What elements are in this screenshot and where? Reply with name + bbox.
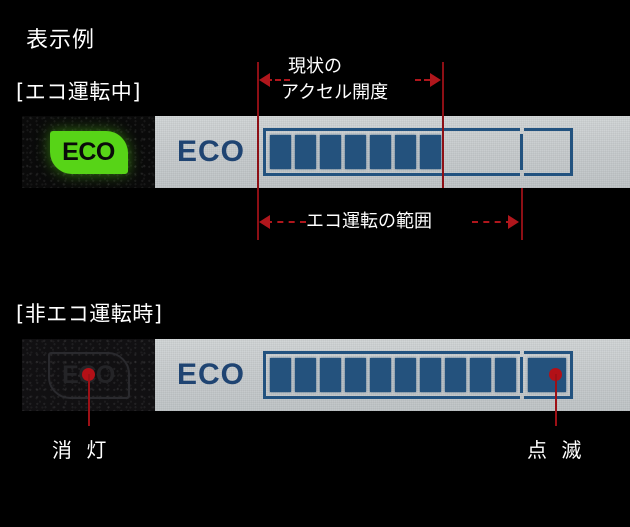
gauge-segment	[345, 135, 366, 169]
eco-gauge-bar	[263, 351, 573, 399]
arrow-range-left	[259, 215, 270, 229]
arrow-accel-left	[259, 73, 270, 87]
marker-leader-right	[555, 374, 557, 426]
dash-range-right	[472, 221, 512, 223]
annotation-accel-opening-line1: 現状の	[288, 56, 342, 78]
gauge-segment	[420, 135, 441, 169]
section-heading-non-eco: [非エコ運転時]	[16, 298, 162, 328]
eco-range-trough	[263, 128, 520, 176]
section-heading-eco: [エコ運転中]	[16, 76, 141, 106]
gauge-segment	[320, 135, 341, 169]
dash-range-left	[266, 221, 306, 223]
callout-label-right: 点 滅	[527, 434, 585, 463]
arrow-accel-right	[430, 73, 441, 87]
gauge-segment	[495, 135, 516, 169]
gauge-segment	[470, 358, 491, 392]
gauge-segment	[295, 135, 316, 169]
annotation-accel-opening-line2: アクセル開度	[281, 82, 388, 104]
gauge-segment	[270, 358, 291, 392]
gauge-eco-label: ECO	[177, 135, 245, 169]
gauge-segment	[420, 358, 441, 392]
eco-range-trough	[263, 351, 520, 399]
gauge-segment	[270, 135, 291, 169]
gauge-segment	[470, 135, 491, 169]
gauge-segment	[320, 358, 341, 392]
gauge-segment	[445, 135, 466, 169]
callout-label-left: 消 灯	[52, 434, 110, 463]
eco-gauge-panel-lit: ECO	[155, 116, 630, 188]
gauge-segment	[370, 358, 391, 392]
gauge-segment	[495, 358, 516, 392]
leader-line-range-left	[257, 188, 259, 240]
telltale-tile-eco-lit: ECO	[22, 116, 155, 188]
over-range-segment	[528, 135, 566, 169]
leader-line-range-right	[521, 188, 523, 240]
eco-leaf-icon: ECO	[50, 131, 128, 174]
gauge-segment	[445, 358, 466, 392]
gauge-segment	[345, 358, 366, 392]
over-range-cell	[524, 128, 573, 176]
marker-leader-left	[88, 374, 90, 426]
gauge-segment	[395, 358, 416, 392]
arrow-range-right	[508, 215, 519, 229]
annotation-eco-range: エコ運転の範囲	[306, 211, 432, 233]
gauge-segment	[295, 358, 316, 392]
eco-gauge-bar	[263, 128, 573, 176]
eco-leaf-label: ECO	[62, 140, 115, 165]
gauge-segment	[395, 135, 416, 169]
gauge-segment	[370, 135, 391, 169]
gauge-eco-label: ECO	[177, 358, 245, 392]
leader-line-accel-right	[442, 62, 444, 188]
page-title: 表示例	[26, 22, 95, 54]
